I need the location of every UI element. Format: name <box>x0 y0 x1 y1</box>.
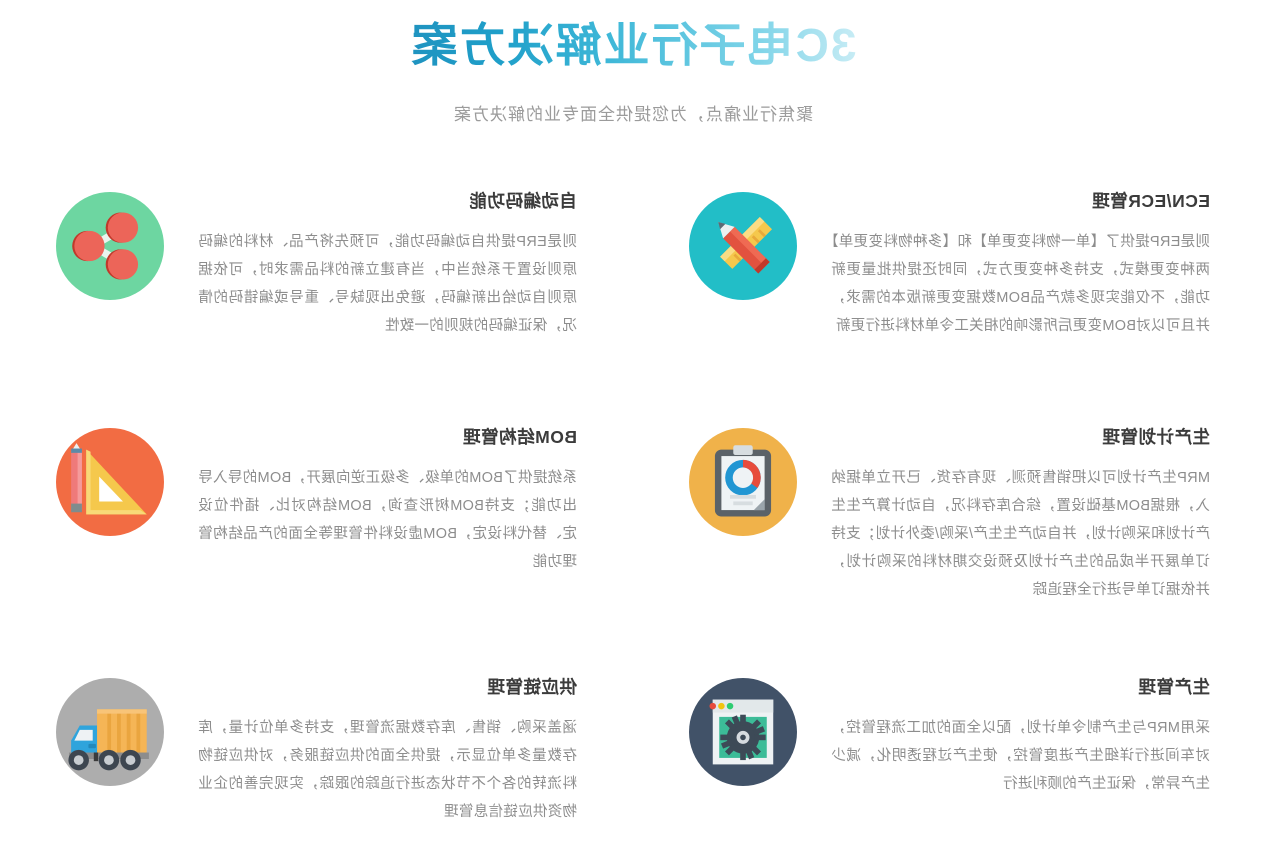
card-text: 自动编码功能 则是ERP提供自动编码功能，可预先将产品、材料的编码原则设置于系统… <box>164 188 577 340</box>
pencil-ruler-icon <box>689 192 797 300</box>
share-network-icon <box>56 192 164 300</box>
feature-card: BOM结构管理 系统提供了BOM的单级、多级正逆向展开，BOM的导入导出功能；支… <box>0 408 633 658</box>
browser-gear-icon <box>689 678 797 786</box>
card-body: MRP生产计划可以把销售预测、现有存货、已开立单据纳入，根据BOM基础设置，综合… <box>831 464 1210 604</box>
card-title: 生产计划管理 <box>831 424 1210 450</box>
card-title: ECN/ECR管理 <box>831 188 1210 214</box>
solution-page: 3C电子行业解决方案 聚焦行业痛点，为您提供全面专业的解决方案 <box>0 0 1266 860</box>
card-text: 生产计划管理 MRP生产计划可以把销售预测、现有存货、已开立单据纳入，根据BOM… <box>797 424 1210 604</box>
card-title: BOM结构管理 <box>198 424 577 450</box>
card-body: 采用MRP与生产制令单计划，配以全面的加工流程管控，对车间进行详细生产进度管控，… <box>831 714 1210 798</box>
card-body: 系统提供了BOM的单级、多级正逆向展开，BOM的导入导出功能；支持BOM树形查询… <box>198 464 577 576</box>
card-body: 则是ERP提供了【单一物料变更单】和【多种物料变更单】两种变更模式，支持多种变更… <box>831 228 1210 340</box>
feature-card: 生产管理 采用MRP与生产制令单计划，配以全面的加工流程管控，对车间进行详细生产… <box>633 658 1266 848</box>
card-body: 则是ERP提供自动编码功能，可预先将产品、材料的编码原则设置于系统当中，当有建立… <box>198 228 577 340</box>
card-title: 生产管理 <box>831 674 1210 700</box>
page-header: 3C电子行业解决方案 聚焦行业痛点，为您提供全面专业的解决方案 <box>0 0 1266 128</box>
feature-card: 供应链管理 涵盖采购、销售、库存数据流管理，支持多单位计量，库存数量多单位显示，… <box>0 658 633 848</box>
card-text: 生产管理 采用MRP与生产制令单计划，配以全面的加工流程管控，对车间进行详细生产… <box>797 674 1210 798</box>
card-text: ECN/ECR管理 则是ERP提供了【单一物料变更单】和【多种物料变更单】两种变… <box>797 188 1210 340</box>
card-text: 供应链管理 涵盖采购、销售、库存数据流管理，支持多单位计量，库存数量多单位显示，… <box>164 674 577 826</box>
feature-card: ECN/ECR管理 则是ERP提供了【单一物料变更单】和【多种物料变更单】两种变… <box>633 172 1266 408</box>
clipboard-chart-icon <box>689 428 797 536</box>
delivery-truck-icon <box>56 678 164 786</box>
page-subtitle: 聚焦行业痛点，为您提供全面专业的解决方案 <box>0 102 1266 128</box>
feature-card: 自动编码功能 则是ERP提供自动编码功能，可预先将产品、材料的编码原则设置于系统… <box>0 172 633 408</box>
card-body: 涵盖采购、销售、库存数据流管理，支持多单位计量，库存数量多单位显示，提供全面的供… <box>198 714 577 826</box>
card-title: 供应链管理 <box>198 674 577 700</box>
triangle-ruler-pencil-icon <box>56 428 164 536</box>
feature-card: 生产计划管理 MRP生产计划可以把销售预测、现有存货、已开立单据纳入，根据BOM… <box>633 408 1266 658</box>
page-title: 3C电子行业解决方案 <box>410 14 857 76</box>
feature-grid: ECN/ECR管理 则是ERP提供了【单一物料变更单】和【多种物料变更单】两种变… <box>0 172 1266 848</box>
card-title: 自动编码功能 <box>198 188 577 214</box>
card-text: BOM结构管理 系统提供了BOM的单级、多级正逆向展开，BOM的导入导出功能；支… <box>164 424 577 576</box>
